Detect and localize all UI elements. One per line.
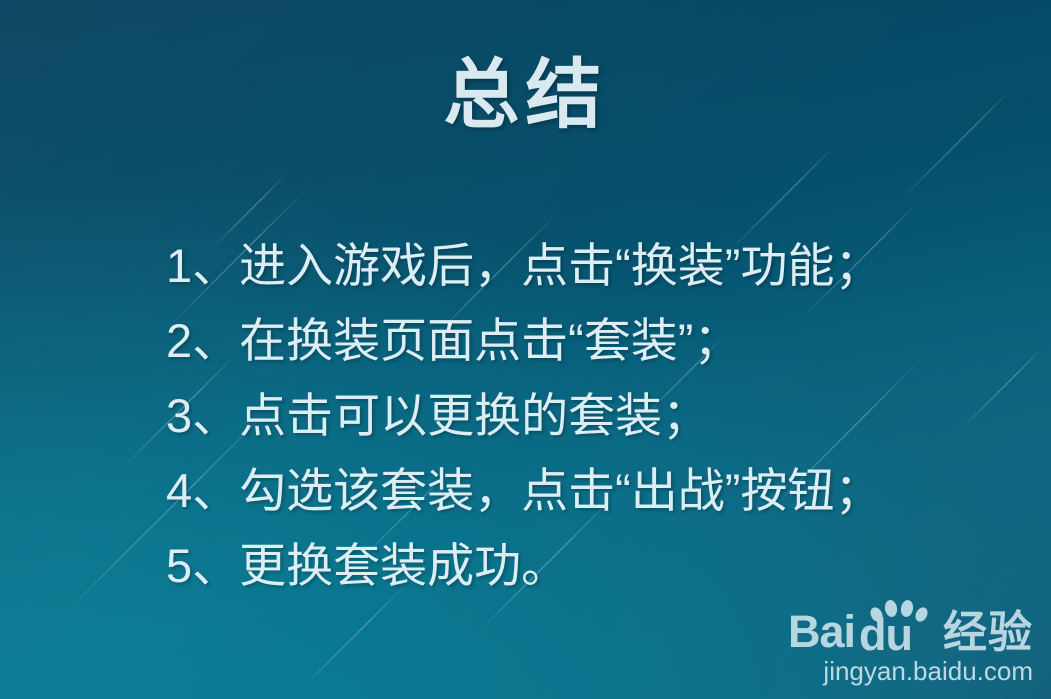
list-item: 1、进入游戏后，点击“换装”功能； [166, 228, 1011, 303]
page-title: 总结 [0, 58, 1051, 134]
watermark-url: jingyan.baidu.com [788, 656, 1033, 687]
list-item: 4、勾选该套装，点击“出战”按钮； [166, 453, 1011, 528]
list-item: 5、更换套装成功。 [166, 528, 1011, 603]
watermark-bai-text: Bai [788, 611, 855, 654]
summary-step-list: 1、进入游戏后，点击“换装”功能； 2、在换装页面点击“套装”； 3、点击可以更… [166, 228, 1011, 603]
watermark-jingyan-text: 经验 [943, 612, 1033, 654]
watermark-du-text: du [859, 614, 912, 657]
presentation-slide: 总结 1、进入游戏后，点击“换装”功能； 2、在换装页面点击“套装”； 3、点击… [0, 0, 1051, 699]
watermark-logo: Bai du 经验 [788, 598, 1033, 654]
list-item: 3、点击可以更换的套装； [166, 378, 1011, 453]
list-item: 2、在换装页面点击“套装”； [166, 303, 1011, 378]
watermark-paw-du-group: du [859, 598, 937, 654]
baidu-jingyan-watermark: Bai du 经验 jingyan.baidu.com [788, 598, 1033, 687]
